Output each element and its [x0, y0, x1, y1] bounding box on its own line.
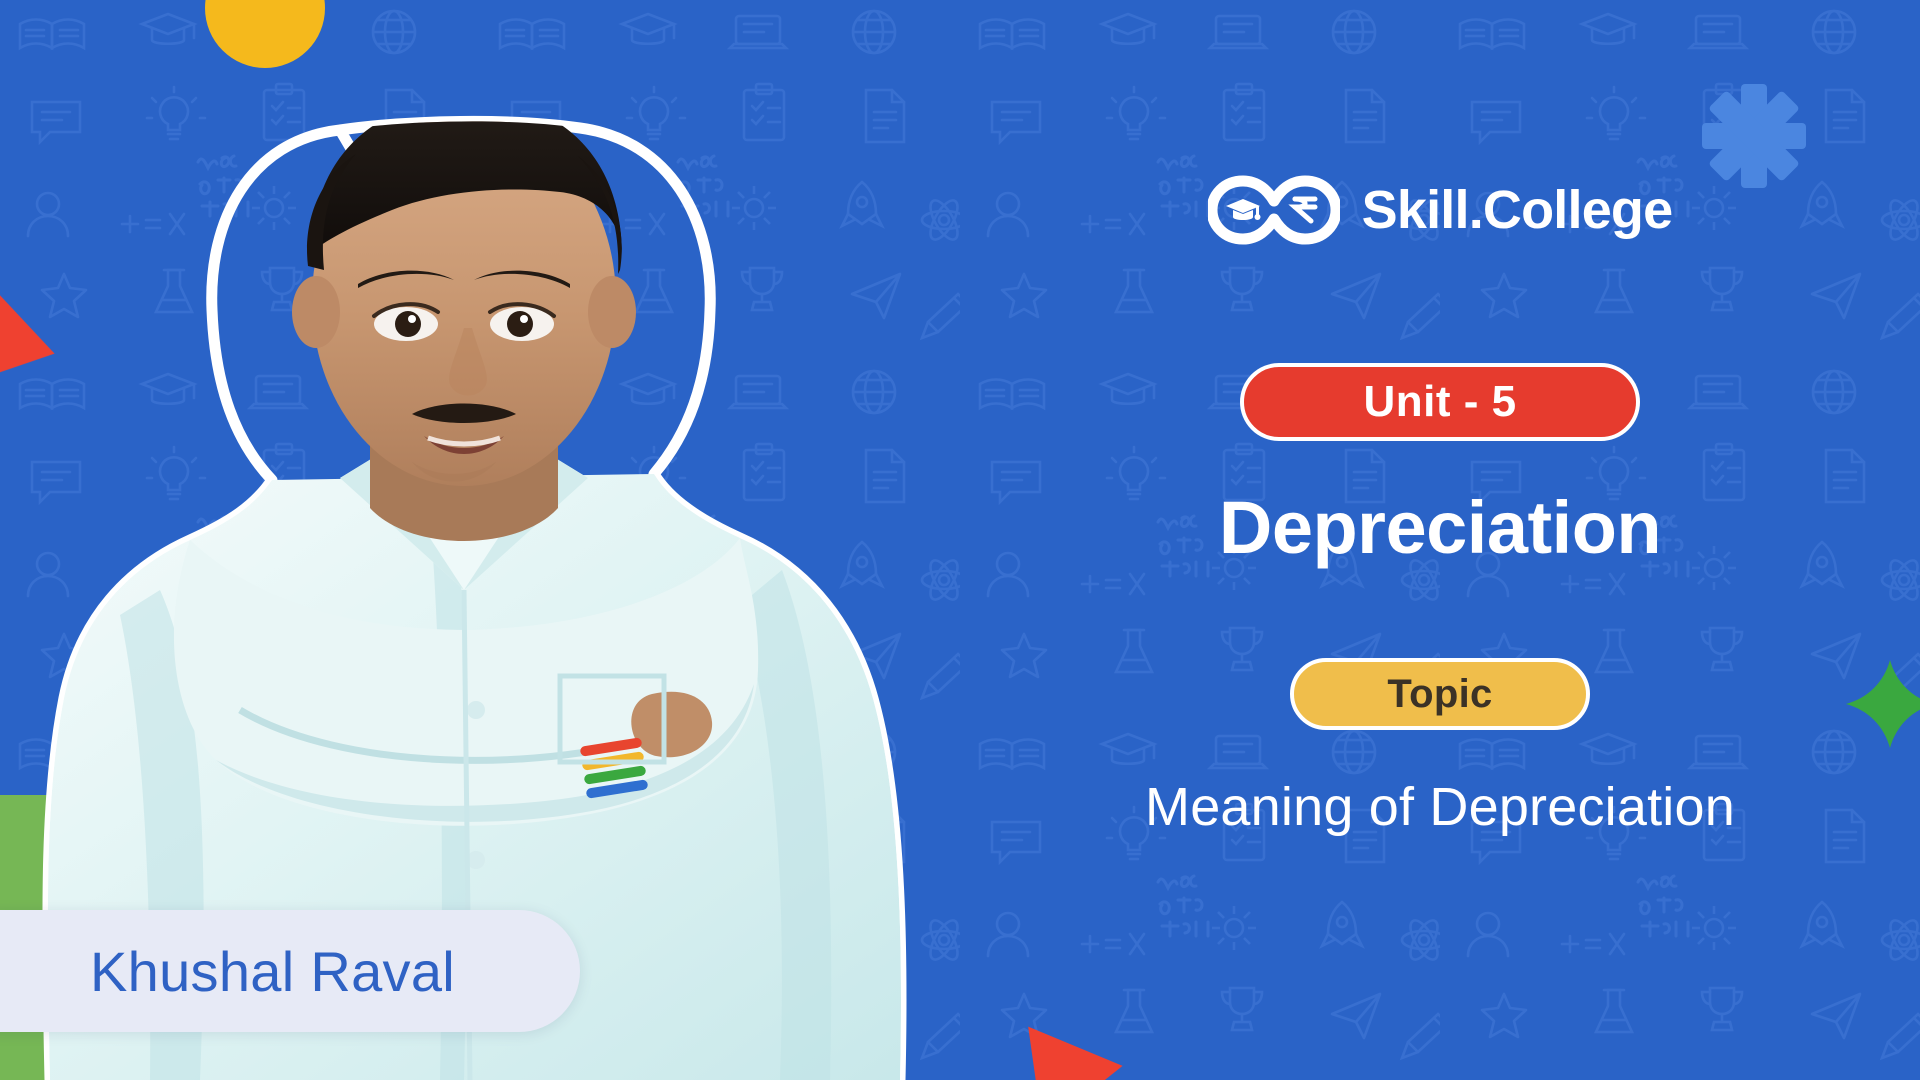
unit-label: Unit - 5: [1363, 377, 1516, 427]
topic-label: Topic: [1387, 672, 1492, 717]
topic-title: Meaning of Depreciation: [1145, 776, 1735, 838]
presenter-nameplate: Khushal Raval: [0, 910, 580, 1032]
title-card-slide: Khushal Raval: [0, 0, 1920, 1080]
infinity-graduation-rupee-icon: [1208, 175, 1340, 245]
unit-badge: Unit - 5: [1240, 363, 1640, 441]
presenter-name: Khushal Raval: [90, 939, 455, 1004]
brand-name: Skill.College: [1362, 179, 1673, 241]
yellow-circle-shape: [205, 0, 325, 68]
lesson-info-panel: Skill.College Unit - 5 Depreciation Topi…: [960, 0, 1920, 1080]
topic-badge: Topic: [1290, 658, 1590, 730]
brand-logo: Skill.College: [1208, 175, 1673, 245]
unit-title: Depreciation: [1219, 485, 1661, 570]
